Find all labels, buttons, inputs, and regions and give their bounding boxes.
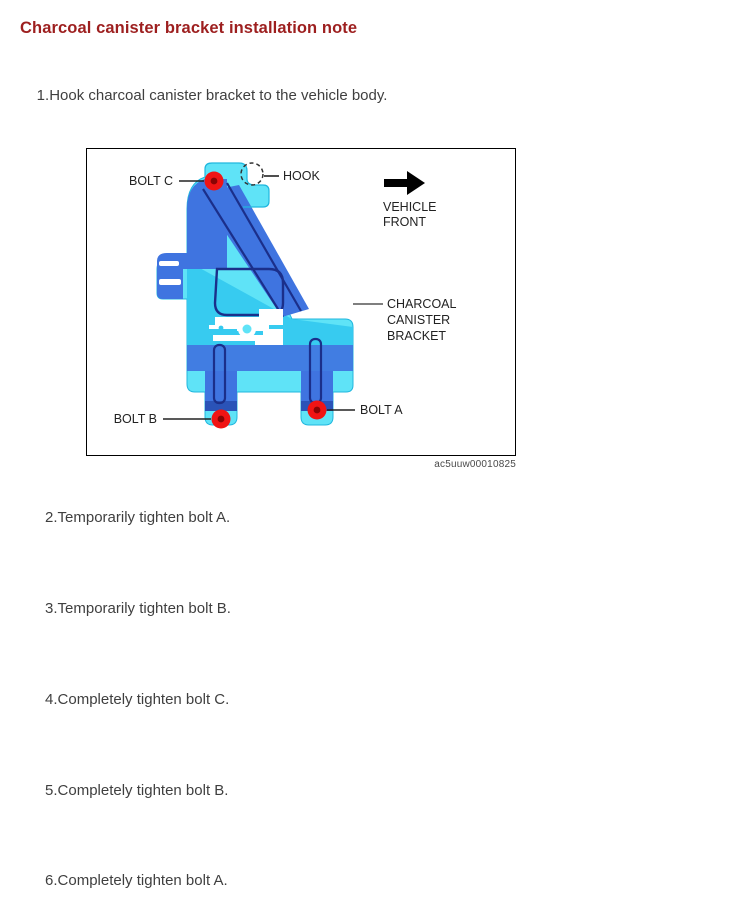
bolt-a-marker: [308, 401, 327, 420]
step-number: 2.: [45, 509, 58, 526]
vehicle-front-label-line2: FRONT: [383, 215, 426, 229]
step-text: Temporarily tighten bolt A.: [58, 509, 231, 526]
bracket-shape: [157, 163, 353, 425]
figure-caption-text: ac5uuw00010825: [434, 459, 516, 470]
bolt-b-marker: [212, 410, 231, 429]
bolt-c-label: BOLT C: [129, 174, 173, 188]
step-number: 5.: [45, 782, 58, 799]
steps-list: 2.Temporarily tighten bolt A. 3.Temporar…: [20, 488, 736, 912]
document-page: Charcoal canister bracket installation n…: [0, 0, 756, 912]
bolt-a-label: BOLT A: [360, 403, 403, 417]
figure-frame: BOLT C HOOK VEHICLE FRONT CHARCOAL CANIS…: [86, 148, 516, 456]
step-number: 4.: [45, 691, 58, 708]
step-item: 1.Hook charcoal canister bracket to the …: [20, 65, 736, 126]
step-number: 1.: [37, 87, 50, 104]
bracket-label-line3: BRACKET: [387, 329, 446, 343]
vehicle-front-label-line1: VEHICLE: [383, 200, 437, 214]
figure-charcoal-canister-bracket: BOLT C HOOK VEHICLE FRONT CHARCOAL CANIS…: [86, 148, 516, 470]
step-text: Hook charcoal canister bracket to the ve…: [49, 87, 387, 104]
figure-caption: ac5uuw00010825: [86, 459, 516, 470]
step-item: 2.Temporarily tighten bolt A.: [20, 488, 736, 549]
step-item: 6.Completely tighten bolt A.: [20, 851, 736, 912]
step-item: 5.Completely tighten bolt B.: [20, 760, 736, 821]
step-number: 3.: [45, 600, 58, 617]
hook-label: HOOK: [283, 169, 320, 183]
step-item: 4.Completely tighten bolt C.: [20, 670, 736, 731]
bolt-b-label: BOLT B: [114, 412, 157, 426]
bracket-illustration: BOLT C HOOK VEHICLE FRONT CHARCOAL CANIS…: [87, 149, 515, 455]
step-text: Completely tighten bolt C.: [58, 691, 230, 708]
bracket-label-line1: CHARCOAL: [387, 297, 457, 311]
step-item: 3.Temporarily tighten bolt B.: [20, 579, 736, 640]
bracket-label-line2: CANISTER: [387, 313, 450, 327]
step-number: 6.: [45, 872, 58, 889]
step-text: Completely tighten bolt B.: [58, 782, 229, 799]
vehicle-front-arrow-icon: [384, 171, 425, 195]
bolt-c-marker: [205, 172, 224, 191]
page-title: Charcoal canister bracket installation n…: [20, 18, 736, 39]
step-text: Temporarily tighten bolt B.: [58, 600, 231, 617]
step-text: Completely tighten bolt A.: [58, 872, 228, 889]
